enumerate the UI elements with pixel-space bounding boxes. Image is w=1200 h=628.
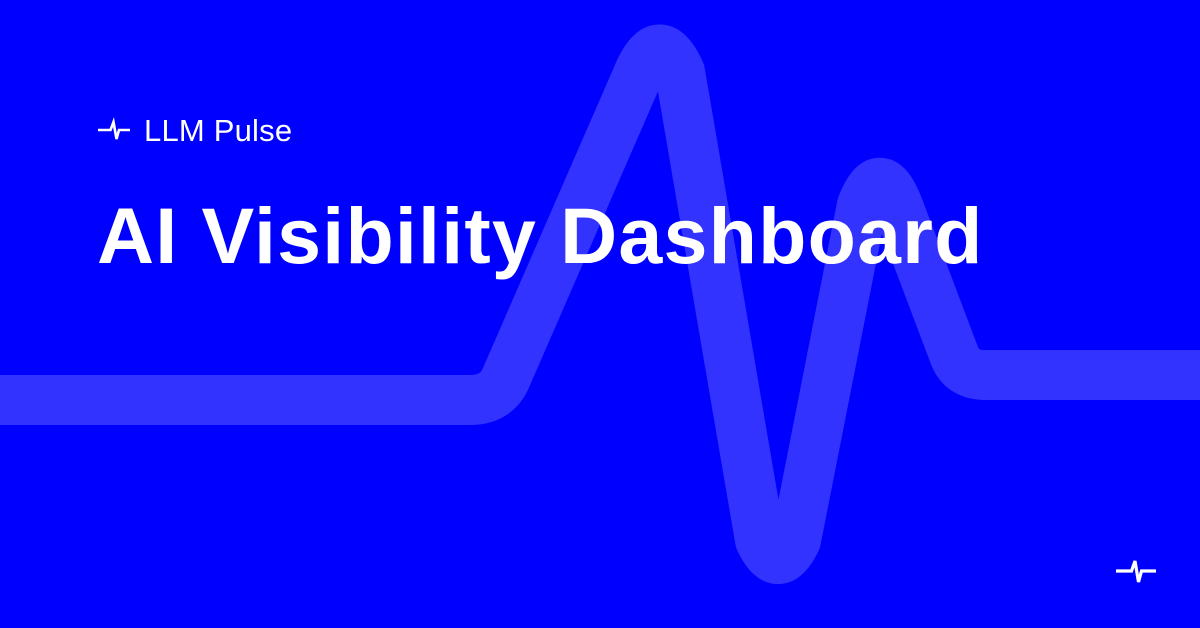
page-title: AI Visibility Dashboard — [97, 196, 984, 277]
brand-lockup: LLM Pulse — [97, 110, 984, 150]
brand-name: LLM Pulse — [144, 115, 292, 146]
ecg-waveform-icon — [0, 0, 1200, 628]
pulse-icon — [97, 117, 131, 143]
card-content: LLM Pulse AI Visibility Dashboard — [97, 110, 984, 277]
corner-pulse-icon — [1114, 554, 1158, 588]
og-card: LLM Pulse AI Visibility Dashboard — [0, 0, 1200, 628]
